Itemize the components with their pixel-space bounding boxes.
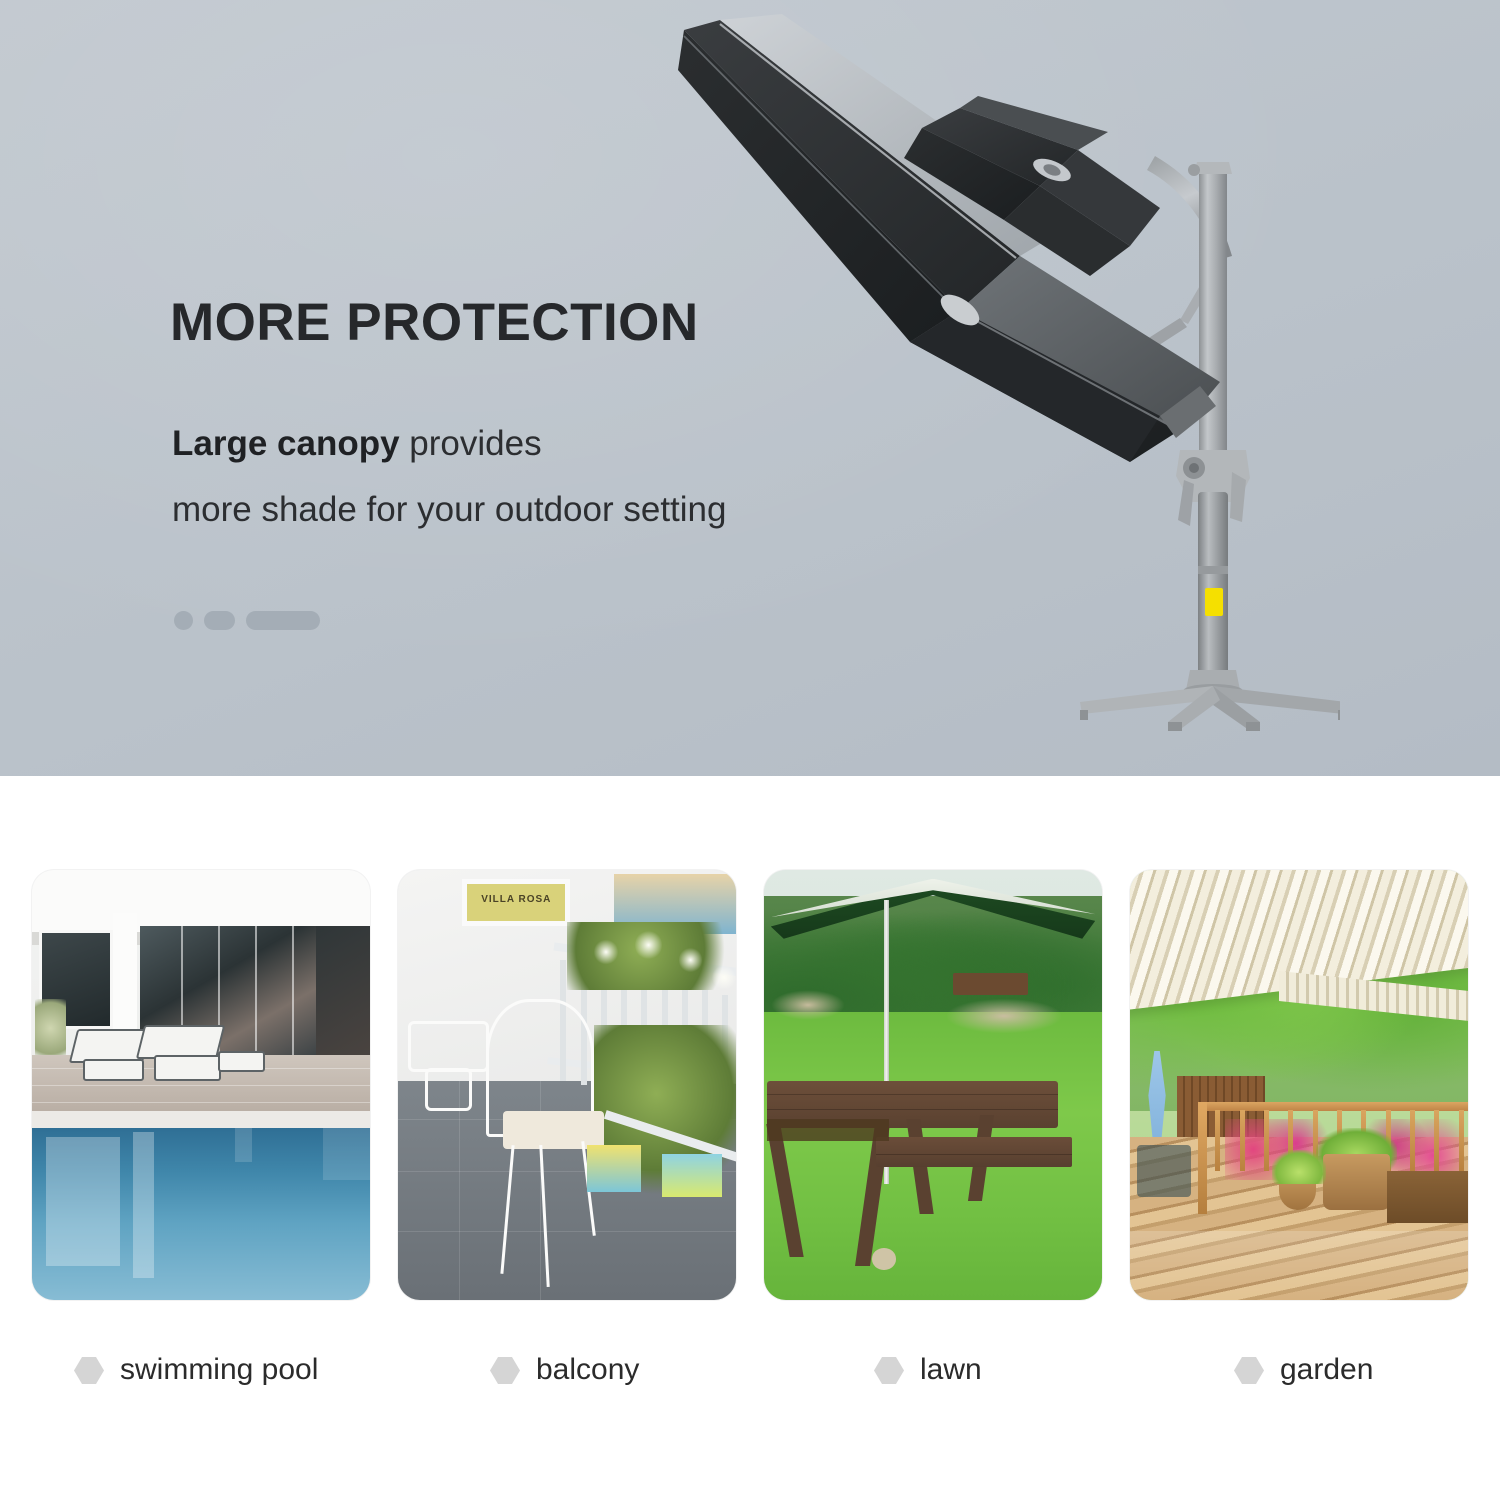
hero-subtitle-rest: provides bbox=[400, 424, 542, 463]
warning-sticker bbox=[1205, 588, 1223, 616]
gallery-label-text: lawn bbox=[920, 1353, 982, 1387]
page-title: MORE PROTECTION bbox=[170, 292, 699, 353]
umbrella-cross-base bbox=[1080, 686, 1340, 731]
pip-small bbox=[174, 611, 193, 630]
gallery-label-balcony: balcony bbox=[398, 1342, 736, 1398]
lawn-photo bbox=[764, 870, 1102, 1300]
hexagon-icon bbox=[74, 1357, 104, 1384]
use-case-gallery: VILLA ROSA bbox=[0, 776, 1500, 1500]
hexagon-icon bbox=[490, 1357, 520, 1384]
gallery-label-text: balcony bbox=[536, 1353, 639, 1387]
gallery-cards: VILLA ROSA bbox=[32, 870, 1468, 1300]
hero-banner: MORE PROTECTION Large canopy provides mo… bbox=[0, 0, 1500, 776]
gallery-label-text: garden bbox=[1280, 1353, 1373, 1387]
pip-large bbox=[246, 611, 320, 630]
gallery-label-swimming-pool: swimming pool bbox=[32, 1342, 370, 1398]
gallery-card-balcony[interactable]: VILLA ROSA bbox=[398, 870, 736, 1300]
hero-subtitle-bold: Large canopy bbox=[172, 424, 400, 463]
pip-medium bbox=[204, 611, 235, 630]
hexagon-icon bbox=[874, 1357, 904, 1384]
gallery-card-swimming-pool[interactable] bbox=[32, 870, 370, 1300]
gallery-label-text: swimming pool bbox=[120, 1353, 318, 1387]
gallery-card-lawn[interactable] bbox=[764, 870, 1102, 1300]
umbrella-pole-lower bbox=[1198, 492, 1228, 678]
garden-photo bbox=[1130, 870, 1468, 1300]
product-feature-page: MORE PROTECTION Large canopy provides mo… bbox=[0, 0, 1500, 1500]
cantilever-umbrella-image bbox=[660, 10, 1340, 750]
gallery-labels: swimming pool balcony lawn garden bbox=[32, 1342, 1468, 1398]
hero-subtitle-line-2: more shade for your outdoor setting bbox=[172, 490, 726, 530]
umbrella-pole-upper bbox=[1199, 162, 1227, 492]
hero-subtitle-line-1: Large canopy provides bbox=[172, 424, 542, 464]
swimming-pool-photo bbox=[32, 870, 370, 1300]
gallery-label-lawn: lawn bbox=[764, 1342, 1102, 1398]
decorative-pips bbox=[174, 611, 320, 630]
balcony-photo: VILLA ROSA bbox=[398, 870, 736, 1300]
gallery-card-garden[interactable] bbox=[1130, 870, 1468, 1300]
umbrella-canopy-lower bbox=[678, 14, 1220, 462]
gallery-label-garden: garden bbox=[1130, 1342, 1468, 1398]
hexagon-icon bbox=[1234, 1357, 1264, 1384]
villa-rosa-sign: VILLA ROSA bbox=[467, 894, 565, 905]
